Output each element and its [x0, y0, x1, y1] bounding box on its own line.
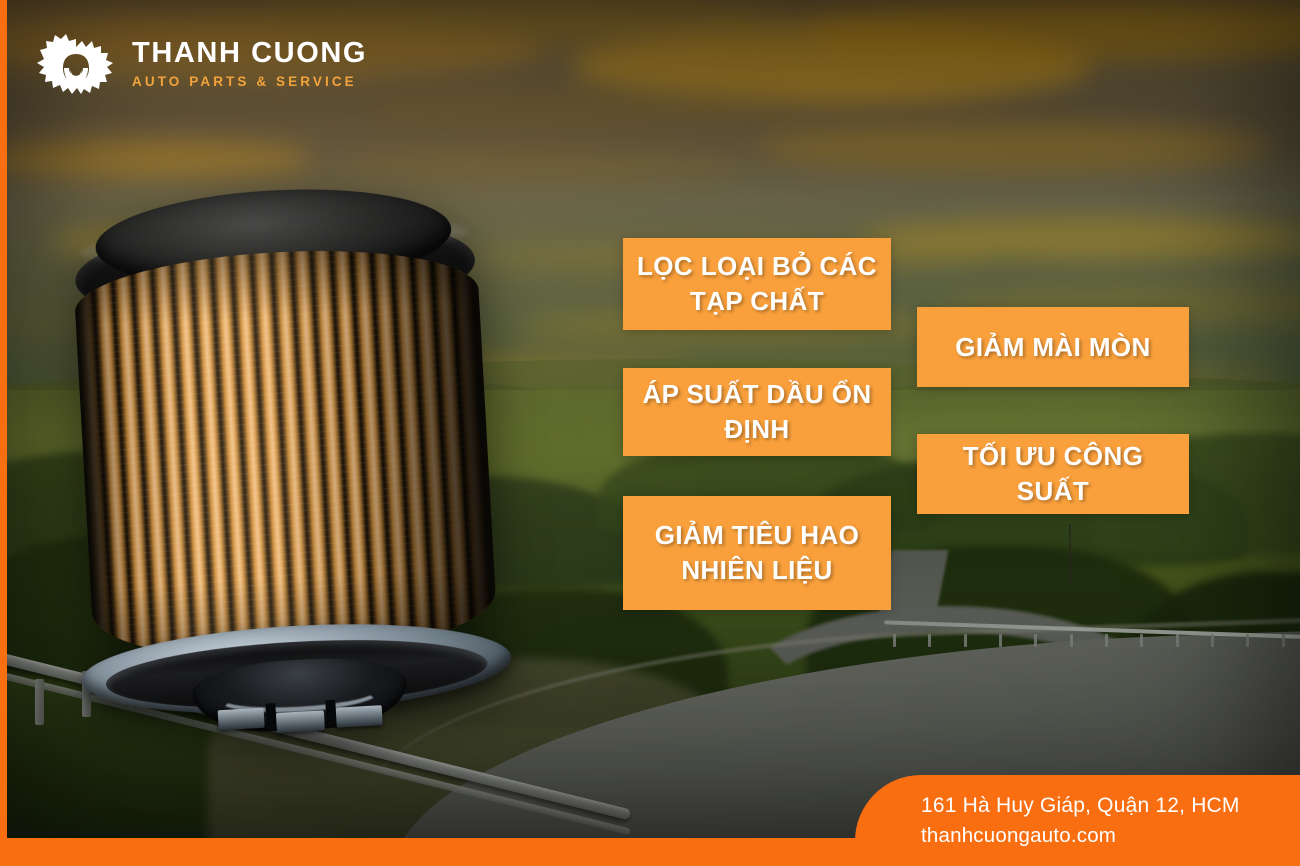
filter-base-notch — [325, 700, 336, 723]
promo-poster: THANH CUONG AUTO PARTS & SERVICE LỌC LOẠ… — [0, 0, 1300, 866]
feature-label: GIẢM MÀI MÒN — [941, 330, 1164, 365]
contact-footer-panel: 161 Hà Huy Giáp, Quận 12, HCM thanhcuong… — [855, 775, 1300, 866]
guard-rail-distant-posts — [884, 634, 1300, 650]
left-accent-bar — [0, 0, 7, 866]
gear-crown-icon — [34, 32, 118, 96]
feature-box-giam-tieu-hao-nhien-lieu[interactable]: GIẢM TIÊU HAO NHIÊN LIỆU — [623, 496, 891, 610]
filter-base-tab — [336, 705, 383, 728]
brand-name: THANH CUONG — [132, 39, 367, 68]
guard-rail-post — [35, 679, 44, 725]
feature-label: TỐI ƯU CÔNG SUẤT — [917, 439, 1189, 508]
feature-label: ÁP SUẤT DẦU ỔN ĐỊNH — [623, 377, 891, 446]
footer-website[interactable]: thanhcuongauto.com — [921, 821, 1300, 850]
filter-pleated-body — [72, 241, 498, 669]
filter-base-tab — [218, 708, 265, 731]
brand-logo-text: THANH CUONG AUTO PARTS & SERVICE — [132, 39, 367, 89]
filter-base-notch — [265, 703, 276, 726]
brand-logo[interactable]: THANH CUONG AUTO PARTS & SERVICE — [34, 32, 367, 96]
filter-base-tab — [276, 710, 325, 733]
filter-body-shading — [72, 241, 498, 669]
feature-label: LỌC LOẠI BỎ CÁC TẠP CHẤT — [623, 249, 891, 318]
feature-box-loc-loai-bo-tap-chat[interactable]: LỌC LOẠI BỎ CÁC TẠP CHẤT — [623, 238, 891, 330]
oil-filter-product-image — [37, 177, 539, 750]
feature-box-giam-mai-mon[interactable]: GIẢM MÀI MÒN — [917, 307, 1189, 387]
feature-box-toi-uu-cong-suat[interactable]: TỐI ƯU CÔNG SUẤT — [917, 434, 1189, 514]
feature-box-ap-suat-dau-on-dinh[interactable]: ÁP SUẤT DẦU ỔN ĐỊNH — [623, 368, 891, 456]
footer-address: 161 Hà Huy Giáp, Quận 12, HCM — [921, 791, 1300, 821]
brand-tagline: AUTO PARTS & SERVICE — [132, 75, 367, 89]
feature-label: GIẢM TIÊU HAO NHIÊN LIỆU — [623, 518, 891, 587]
